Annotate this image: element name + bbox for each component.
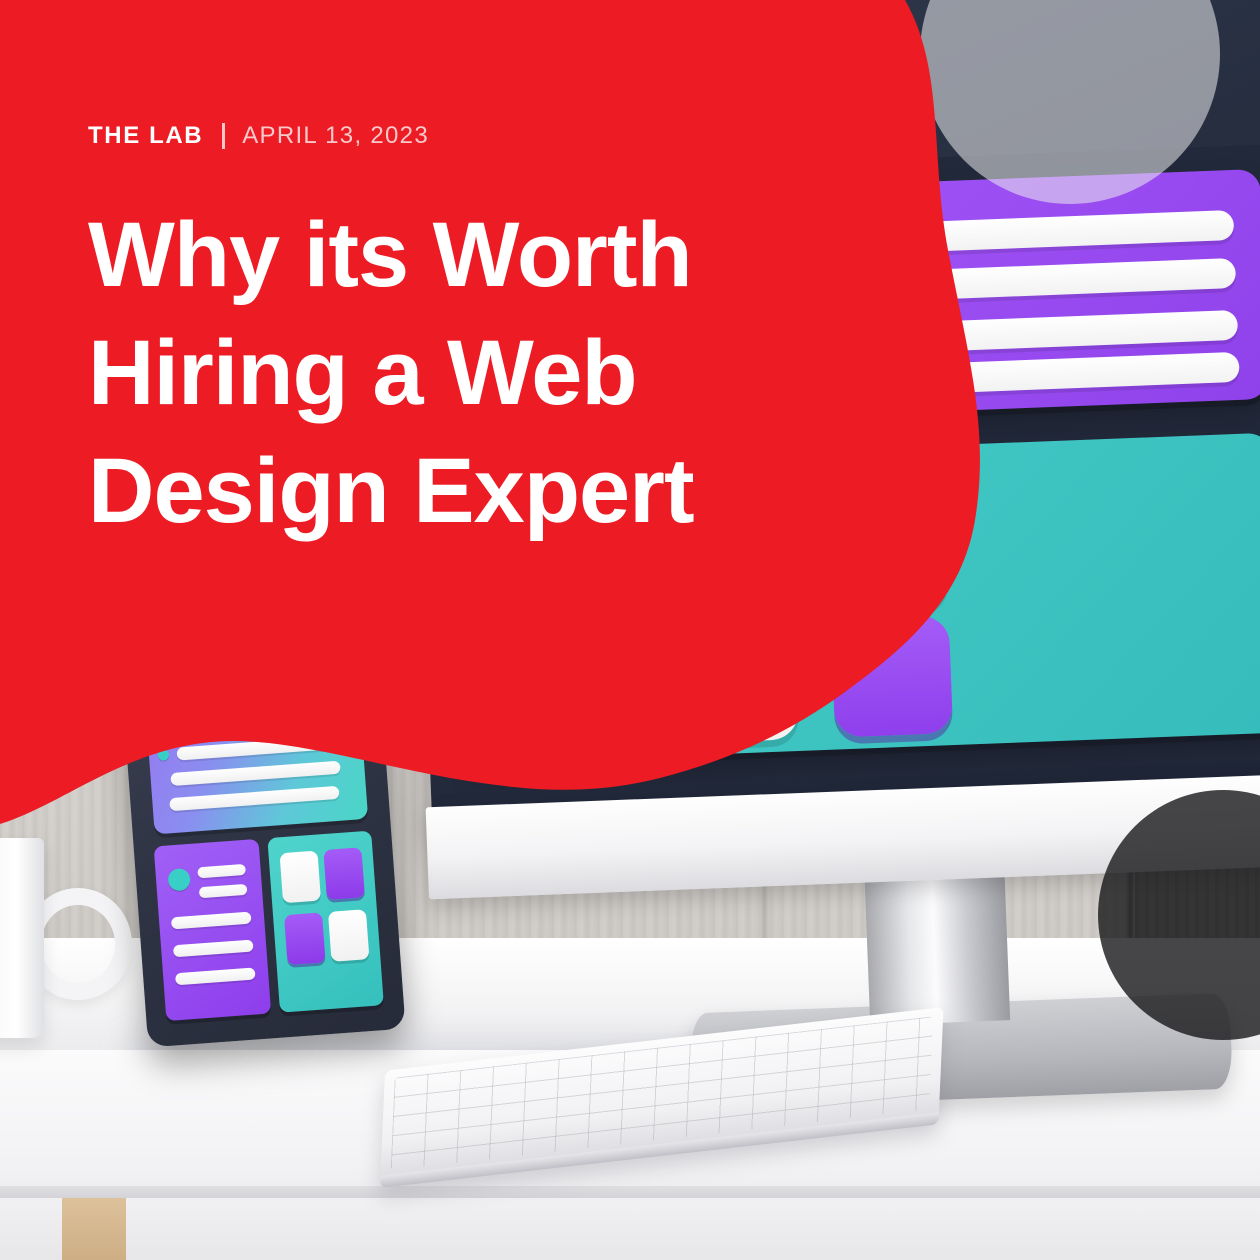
brand-label: THE LAB [88,122,203,150]
text-content: THE LAB APRIL 13, 2023 Why its Worth Hir… [0,0,1260,1260]
eyebrow: THE LAB APRIL 13, 2023 [88,122,429,150]
page-title: Why its Worth Hiring a Web Design Expert [88,196,788,550]
promo-card-canvas: THE LAB APRIL 13, 2023 Why its Worth Hir… [0,0,1260,1260]
headline-line-3: Design Expert [88,432,788,550]
headline-line-2: Hiring a Web [88,314,788,432]
eyebrow-separator [222,123,225,149]
headline-line-1: Why its Worth [88,196,788,314]
publish-date: APRIL 13, 2023 [242,122,429,150]
